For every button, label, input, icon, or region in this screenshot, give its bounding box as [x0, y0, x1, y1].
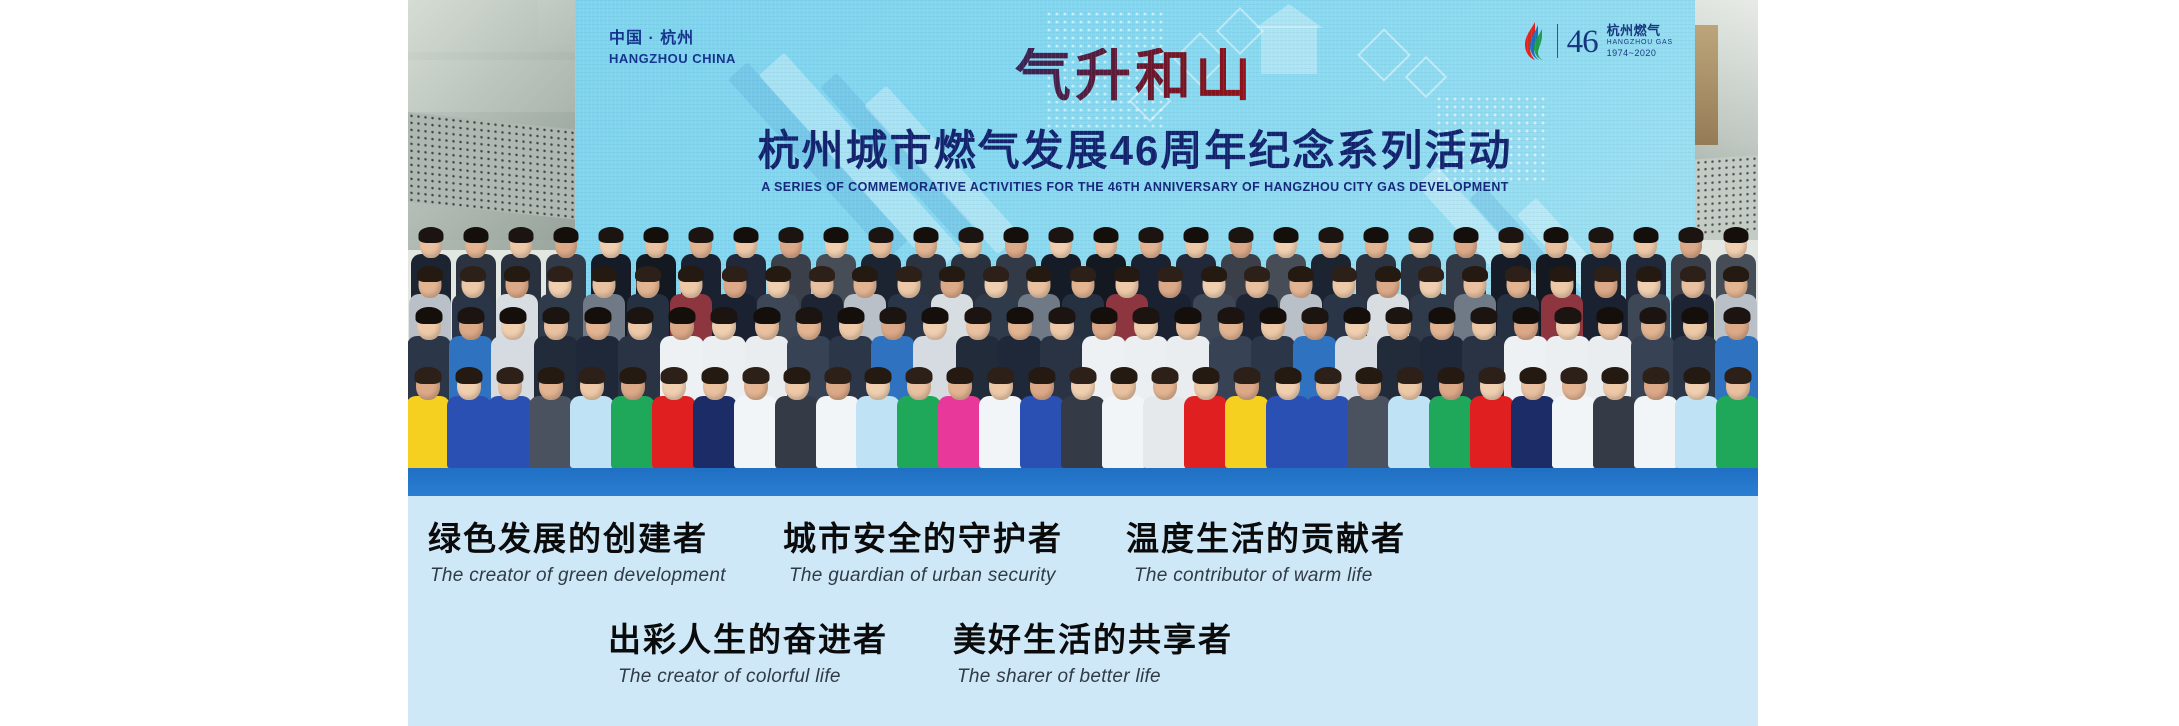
person-hair: [939, 266, 965, 282]
person-hair: [620, 367, 647, 384]
person: [1429, 366, 1473, 468]
person-hair: [1151, 367, 1178, 384]
person: [570, 366, 614, 468]
person-hair: [1070, 367, 1097, 384]
person-hair: [1408, 227, 1433, 242]
person-hair: [1029, 367, 1056, 384]
person: [775, 366, 819, 468]
person-hair: [504, 266, 530, 282]
person-hair: [1601, 367, 1628, 384]
person-hair: [958, 227, 983, 242]
person-hair: [947, 367, 974, 384]
person-hair: [896, 266, 922, 282]
person-torso: [897, 396, 941, 468]
person-hair: [1318, 227, 1343, 242]
person-hair: [1363, 227, 1388, 242]
person-hair: [417, 266, 443, 282]
person-hair: [1543, 227, 1568, 242]
person: [652, 366, 696, 468]
person: [816, 366, 860, 468]
slogan-chinese: 温度生活的贡献者: [1126, 518, 1406, 559]
person: [1102, 366, 1146, 468]
person-torso: [1716, 396, 1758, 468]
person-hair: [542, 307, 569, 324]
person: [408, 366, 450, 468]
person-torso: [1675, 396, 1719, 468]
person-hair: [456, 367, 483, 384]
person-hair: [591, 266, 617, 282]
person-hair: [1438, 367, 1465, 384]
art-title: 气升和山: [575, 48, 1695, 104]
person-hair: [460, 266, 486, 282]
person-hair: [753, 307, 780, 324]
person-hair: [1192, 367, 1219, 384]
slogan-item: 绿色发展的创建者 The creator of green developmen…: [428, 518, 726, 587]
person-torso: [816, 396, 860, 468]
company-name-en: HANGZHOU GAS: [1607, 39, 1673, 48]
person: [938, 366, 982, 468]
person-hair: [1588, 227, 1613, 242]
person-hair: [964, 307, 991, 324]
person-hair: [1723, 266, 1749, 282]
person-hair: [547, 266, 573, 282]
person-hair: [913, 227, 938, 242]
person-hair: [1183, 227, 1208, 242]
content-column: 中国 · 杭州 HANGZHOU CHINA 46 杭州燃气 HANGZHOU …: [408, 0, 1758, 726]
person-hair: [1356, 367, 1383, 384]
person-hair: [795, 307, 822, 324]
person-hair: [722, 266, 748, 282]
person-hair: [1462, 266, 1488, 282]
person-hair: [1093, 227, 1118, 242]
person-hair: [1678, 227, 1703, 242]
person-hair: [1091, 307, 1118, 324]
person-hair: [1636, 266, 1662, 282]
person-torso: [1143, 396, 1187, 468]
person-hair: [1633, 227, 1658, 242]
person-hair: [418, 227, 443, 242]
person-torso: [1184, 396, 1228, 468]
person-torso: [529, 396, 573, 468]
slogan-item: 城市安全的守护者 The guardian of urban security: [783, 518, 1063, 587]
person-torso: [1552, 396, 1596, 468]
person-hair: [1418, 266, 1444, 282]
person-hair: [1549, 266, 1575, 282]
group-photo: 中国 · 杭州 HANGZHOU CHINA 46 杭州燃气 HANGZHOU …: [408, 0, 1758, 496]
slogan-english: The contributor of warm life: [1126, 565, 1406, 587]
person-hair: [1138, 227, 1163, 242]
person-hair: [1026, 266, 1052, 282]
person: [1388, 366, 1432, 468]
person-hair: [1723, 307, 1750, 324]
person-torso: [408, 396, 450, 468]
person-torso: [447, 396, 491, 468]
person-hair: [1157, 266, 1183, 282]
person-hair: [701, 367, 728, 384]
crowd-of-attendees: {}: [408, 166, 1758, 496]
person-hair: [458, 307, 485, 324]
person-hair: [1593, 266, 1619, 282]
person-hair: [1110, 367, 1137, 384]
person-hair: [1498, 227, 1523, 242]
person-hair: [1397, 367, 1424, 384]
person-hair: [669, 307, 696, 324]
person: [529, 366, 573, 468]
person: [979, 366, 1023, 468]
person-torso: [938, 396, 982, 468]
person-hair: [1724, 367, 1751, 384]
person-torso: [1102, 396, 1146, 468]
person-hair: [538, 367, 565, 384]
person: [1184, 366, 1228, 468]
person: [1061, 366, 1105, 468]
person-hair: [1344, 307, 1371, 324]
person-hair: [1597, 307, 1624, 324]
slogan-chinese: 绿色发展的创建者: [428, 518, 726, 559]
person-hair: [809, 266, 835, 282]
person-hair: [415, 367, 442, 384]
person: [1634, 366, 1678, 468]
person-hair: [1273, 227, 1298, 242]
person-hair: [660, 367, 687, 384]
locality-chinese: 中国 · 杭州: [609, 28, 736, 50]
person-torso: [1634, 396, 1678, 468]
person-hair: [742, 367, 769, 384]
person-hair: [1114, 266, 1140, 282]
person-hair: [983, 266, 1009, 282]
person-hair: [1512, 307, 1539, 324]
person-hair: [1048, 307, 1075, 324]
person-hair: [635, 266, 661, 282]
person-hair: [1680, 266, 1706, 282]
person-hair: [500, 307, 527, 324]
person-hair: [1302, 307, 1329, 324]
slogan-chinese: 出彩人生的奋进者: [608, 619, 888, 660]
person-hair: [880, 307, 907, 324]
person-hair: [1479, 367, 1506, 384]
person-torso: [775, 396, 819, 468]
person: [1266, 366, 1310, 468]
person-torso: [1306, 396, 1350, 468]
person-hair: [824, 367, 851, 384]
person-torso: [611, 396, 655, 468]
person-torso: [734, 396, 778, 468]
person-hair: [1681, 307, 1708, 324]
person: [856, 366, 900, 468]
person-hair: [463, 227, 488, 242]
person-hair: [1133, 307, 1160, 324]
person-hair: [416, 307, 443, 324]
person-torso: [693, 396, 737, 468]
person-torso: [570, 396, 614, 468]
person-hair: [579, 367, 606, 384]
person-hair: [508, 227, 533, 242]
person-torso: [1388, 396, 1432, 468]
person-hair: [1639, 307, 1666, 324]
person-hair: [988, 367, 1015, 384]
person-torso: [979, 396, 1023, 468]
person: [1552, 366, 1596, 468]
slogan-english: The creator of colorful life: [608, 666, 888, 688]
person-hair: [497, 367, 524, 384]
person: [1470, 366, 1514, 468]
person: [734, 366, 778, 468]
person-torso: [1593, 396, 1637, 468]
person-hair: [1642, 367, 1669, 384]
person-hair: [906, 367, 933, 384]
person-hair: [1048, 227, 1073, 242]
person: [611, 366, 655, 468]
person-hair: [1274, 367, 1301, 384]
person-hair: [1560, 367, 1587, 384]
person-hair: [1386, 307, 1413, 324]
person-hair: [1233, 367, 1260, 384]
person: [897, 366, 941, 468]
person-hair: [1244, 266, 1270, 282]
person-hair: [1006, 307, 1033, 324]
person-torso: [1429, 396, 1473, 468]
person-hair: [598, 227, 623, 242]
person: [1511, 366, 1555, 468]
person-hair: [868, 227, 893, 242]
person-torso: [1511, 396, 1555, 468]
person-hair: [1201, 266, 1227, 282]
person-hair: [733, 227, 758, 242]
person: [693, 366, 737, 468]
person-hair: [1520, 367, 1547, 384]
person-hair: [922, 307, 949, 324]
person: [1675, 366, 1719, 468]
slogan-item: 美好生活的共享者 The sharer of better life: [953, 619, 1233, 688]
person-torso: [1020, 396, 1064, 468]
person-torso: [1225, 396, 1269, 468]
person-hair: [1453, 227, 1478, 242]
slogan-english: The guardian of urban security: [783, 565, 1063, 587]
person: [1225, 366, 1269, 468]
person-torso: [488, 396, 532, 468]
person: [1020, 366, 1064, 468]
slogan-chinese: 美好生活的共享者: [953, 619, 1233, 660]
person-hair: [1555, 307, 1582, 324]
person-hair: [852, 266, 878, 282]
person-hair: [765, 266, 791, 282]
slogan-item: 出彩人生的奋进者 The creator of colorful life: [608, 619, 888, 688]
person: [488, 366, 532, 468]
person-hair: [584, 307, 611, 324]
person-hair: [778, 227, 803, 242]
person-hair: [1331, 266, 1357, 282]
person: [1143, 366, 1187, 468]
person-hair: [1003, 227, 1028, 242]
person-hair: [823, 227, 848, 242]
slogan-chinese: 城市安全的守护者: [783, 518, 1063, 559]
person-hair: [865, 367, 892, 384]
person: [1716, 366, 1758, 468]
person: [1593, 366, 1637, 468]
person-hair: [1428, 307, 1455, 324]
person-hair: [1288, 266, 1314, 282]
person-torso: [1470, 396, 1514, 468]
page-root: 中国 · 杭州 HANGZHOU CHINA 46 杭州燃气 HANGZHOU …: [0, 0, 2179, 726]
person-hair: [783, 367, 810, 384]
slogan-english: The creator of green development: [428, 565, 726, 587]
person-hair: [1683, 367, 1710, 384]
person-torso: [856, 396, 900, 468]
company-name-cn: 杭州燃气: [1607, 23, 1673, 39]
slogans-panel: 绿色发展的创建者 The creator of green developmen…: [408, 496, 1758, 726]
person-hair: [1228, 227, 1253, 242]
slogan-english: The sharer of better life: [953, 666, 1233, 688]
person-hair: [553, 227, 578, 242]
person-hair: [837, 307, 864, 324]
person-hair: [1375, 266, 1401, 282]
slogan-item: 温度生活的贡献者 The contributor of warm life: [1126, 518, 1406, 587]
person-hair: [1505, 266, 1531, 282]
person-torso: [1061, 396, 1105, 468]
person-hair: [627, 307, 654, 324]
person-hair: [1175, 307, 1202, 324]
person-hair: [1470, 307, 1497, 324]
person-hair: [688, 227, 713, 242]
person: [447, 366, 491, 468]
person: [1347, 366, 1391, 468]
person-torso: [652, 396, 696, 468]
person-hair: [678, 266, 704, 282]
person-hair: [1315, 367, 1342, 384]
person: [1306, 366, 1350, 468]
person-torso: [1266, 396, 1310, 468]
person-hair: [1259, 307, 1286, 324]
person-hair: [1070, 266, 1096, 282]
person-hair: [711, 307, 738, 324]
person-hair: [1723, 227, 1748, 242]
person-torso: [1347, 396, 1391, 468]
person-hair: [1217, 307, 1244, 324]
person-hair: [643, 227, 668, 242]
